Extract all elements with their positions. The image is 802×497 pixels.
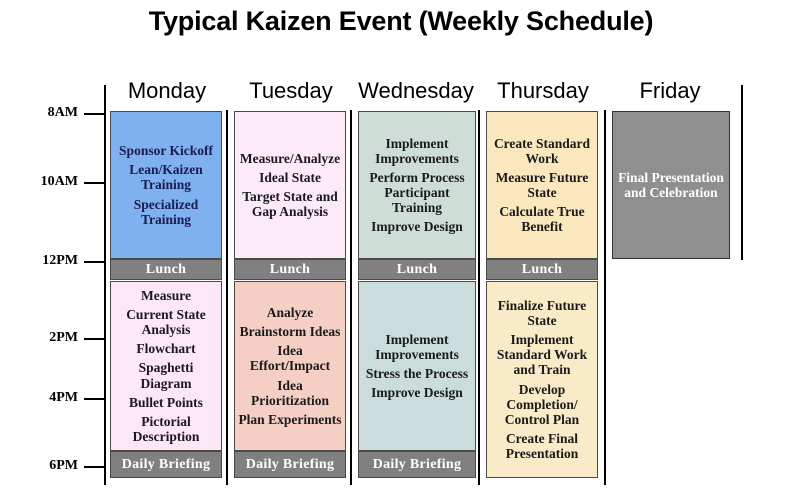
block-thursday-morning[interactable]: Create Standard Work Measure Future Stat… [486, 111, 598, 259]
task-label: Improve Design [362, 219, 472, 234]
column-separator-1 [226, 110, 228, 485]
time-label-2pm: 2PM [8, 330, 78, 346]
task-label: Idea Effort/Impact [238, 343, 342, 373]
block-wednesday-daily-briefing[interactable]: Daily Briefing [358, 451, 476, 478]
task-label: Ideal State [238, 170, 342, 185]
task-label: Implement Improvements [362, 332, 472, 362]
task-label: Specialized Training [114, 197, 218, 227]
task-label: Implement Improvements [362, 136, 472, 166]
block-wednesday-lunch[interactable]: Lunch [358, 259, 476, 280]
block-thursday-lunch[interactable]: Lunch [486, 259, 598, 280]
task-label: Perform Process Participant Training [362, 170, 472, 215]
axis-tick-10am [84, 182, 104, 184]
block-monday-morning[interactable]: Sponsor Kickoff Lean/Kaizen Training Spe… [110, 111, 222, 259]
time-label-8am: 8AM [8, 105, 78, 121]
day-header-wednesday: Wednesday [352, 78, 480, 104]
task-label: Measure Future State [490, 170, 594, 200]
task-label: Implement Standard Work and Train [490, 332, 594, 377]
axis-tick-2pm [84, 338, 104, 340]
task-label: Spaghetti Diagram [114, 360, 218, 390]
task-label: Improve Design [362, 385, 472, 400]
block-tuesday-afternoon[interactable]: Analyze Brainstorm Ideas Idea Effort/Imp… [234, 281, 346, 451]
column-separator-2 [350, 110, 352, 485]
task-label: Measure/Analyze [238, 151, 342, 166]
time-label-6pm: 6PM [8, 458, 78, 474]
task-label: Create Final Presentation [490, 431, 594, 461]
axis-tick-12pm [84, 261, 104, 263]
task-label: Current State Analysis [114, 307, 218, 337]
block-monday-afternoon[interactable]: Measure Current State Analysis Flowchart… [110, 281, 222, 451]
column-separator-3 [478, 110, 480, 485]
axis-tick-6pm [84, 466, 104, 468]
page-title: Typical Kaizen Event (Weekly Schedule) [0, 6, 802, 37]
task-label: Target State and Gap Analysis [238, 189, 342, 219]
day-header-monday: Monday [106, 78, 228, 104]
block-friday-final-presentation[interactable]: Final Presentation and Celebration [612, 111, 730, 259]
task-label: Final Presentation and Celebration [616, 170, 726, 200]
task-label: Brainstorm Ideas [238, 324, 342, 339]
task-label: Measure [114, 288, 218, 303]
block-tuesday-daily-briefing[interactable]: Daily Briefing [234, 451, 346, 478]
day-header-tuesday: Tuesday [230, 78, 352, 104]
axis-tick-8am [84, 113, 104, 115]
task-label: Finalize Future State [490, 298, 594, 328]
task-label: Analyze [238, 305, 342, 320]
task-label: Pictorial Description [114, 414, 218, 444]
day-header-thursday: Thursday [482, 78, 604, 104]
day-header-friday: Friday [606, 78, 734, 104]
task-label: Lean/Kaizen Training [114, 162, 218, 192]
task-label: Sponsor Kickoff [114, 143, 218, 158]
task-label: Bullet Points [114, 395, 218, 410]
column-separator-4 [604, 110, 606, 485]
time-label-4pm: 4PM [8, 390, 78, 406]
time-axis-line [104, 85, 106, 485]
block-wednesday-afternoon[interactable]: Implement Improvements Stress the Proces… [358, 281, 476, 451]
block-wednesday-morning[interactable]: Implement Improvements Perform Process P… [358, 111, 476, 259]
task-label: Calculate True Benefit [490, 204, 594, 234]
task-label: Plan Experiments [238, 412, 342, 427]
time-label-12pm: 12PM [8, 253, 78, 269]
task-label: Create Standard Work [490, 136, 594, 166]
block-monday-daily-briefing[interactable]: Daily Briefing [110, 451, 222, 478]
task-label: Develop Completion/ Control Plan [490, 382, 594, 427]
block-tuesday-lunch[interactable]: Lunch [234, 259, 346, 280]
right-boundary-line [741, 85, 743, 260]
block-tuesday-morning[interactable]: Measure/Analyze Ideal State Target State… [234, 111, 346, 259]
time-label-10am: 10AM [8, 174, 78, 190]
task-label: Stress the Process [362, 366, 472, 381]
task-label: Flowchart [114, 341, 218, 356]
block-thursday-afternoon[interactable]: Finalize Future State Implement Standard… [486, 281, 598, 478]
axis-tick-4pm [84, 398, 104, 400]
task-label: Idea Prioritization [238, 378, 342, 408]
block-monday-lunch[interactable]: Lunch [110, 259, 222, 280]
